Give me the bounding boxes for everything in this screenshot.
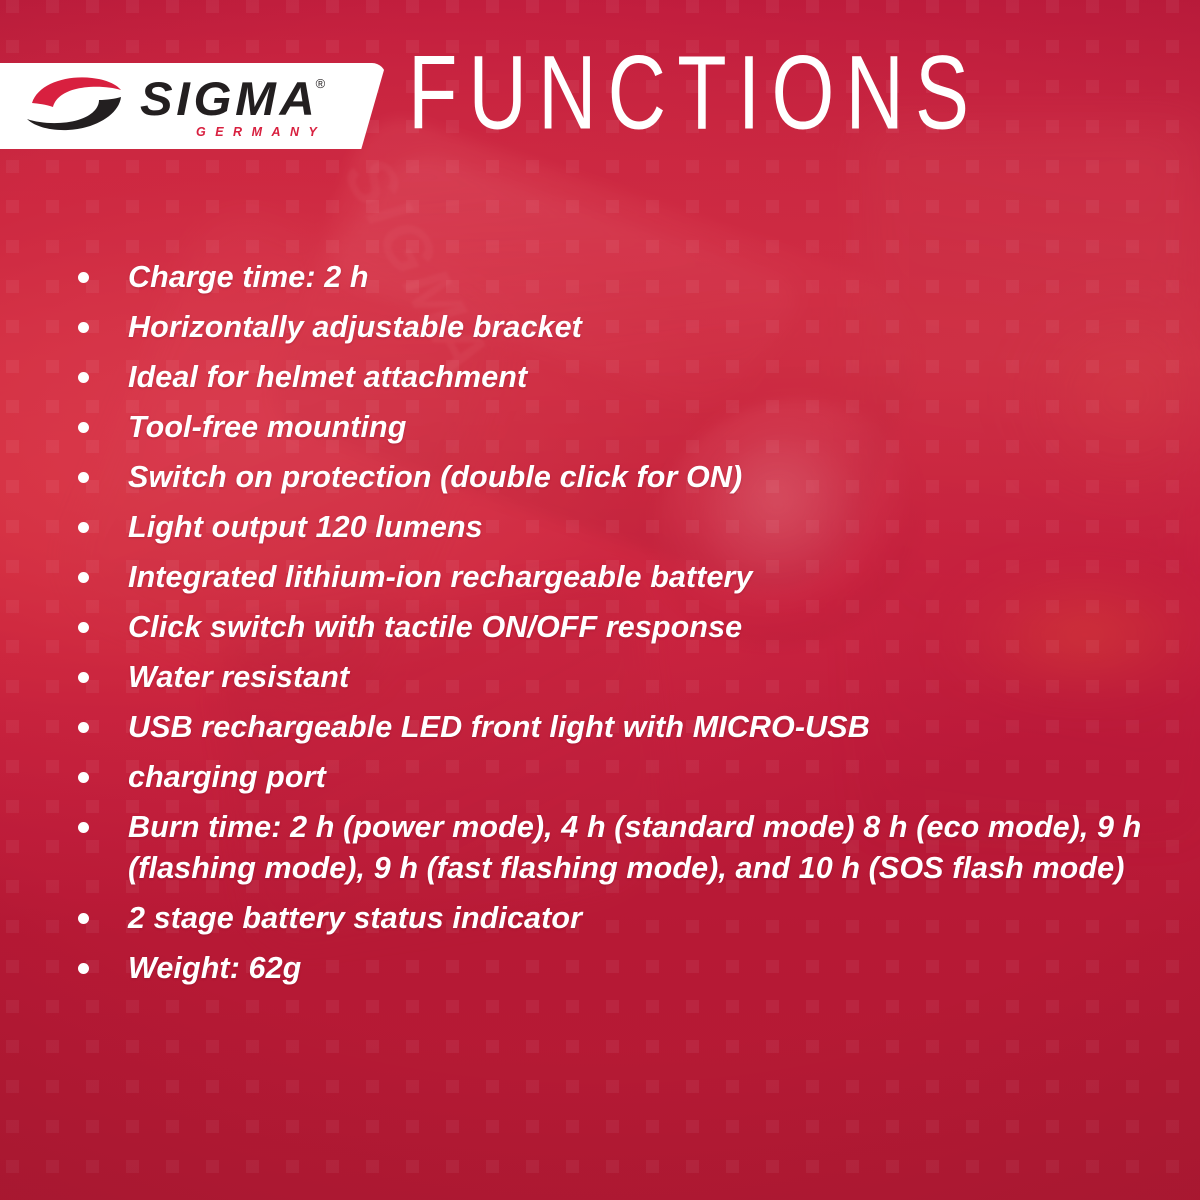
functions-infographic: SIGMA SIGMA ® GERMANY FUNCTIONS Charge t…: [0, 0, 1200, 1200]
list-item: charging port: [62, 757, 1152, 798]
list-item: Burn time: 2 h (power mode), 4 h (standa…: [62, 807, 1148, 889]
page-title: FUNCTIONS: [408, 40, 980, 145]
list-item: Ideal for helmet attachment: [62, 357, 1152, 398]
list-item: Charge time: 2 h: [62, 257, 1152, 298]
list-item: Integrated lithium-ion rechargeable batt…: [62, 557, 1152, 598]
list-item: Weight: 62g: [62, 948, 1152, 989]
list-item: Tool-free mounting: [62, 407, 1152, 448]
list-item: 2 stage battery status indicator: [62, 898, 1152, 939]
sigma-wordmark: SIGMA ®: [140, 75, 325, 122]
list-item: Horizontally adjustable bracket: [62, 307, 1152, 348]
list-item: Water resistant: [62, 657, 1152, 698]
sigma-logo-badge: SIGMA ® GERMANY: [0, 63, 386, 149]
list-item: Switch on protection (double click for O…: [62, 457, 1152, 498]
list-item: USB rechargeable LED front light with MI…: [62, 707, 1152, 748]
list-item: Click switch with tactile ON/OFF respons…: [62, 607, 1152, 648]
list-item: Light output 120 lumens: [62, 507, 1152, 548]
features-list: Charge time: 2 h Horizontally adjustable…: [62, 257, 1152, 998]
sigma-swoosh-logo-icon: [22, 73, 130, 139]
header: SIGMA ® GERMANY FUNCTIONS: [0, 0, 1200, 178]
sigma-logo-tagline: GERMANY: [196, 125, 326, 139]
sigma-wordmark-text: SIGMA: [140, 75, 318, 122]
